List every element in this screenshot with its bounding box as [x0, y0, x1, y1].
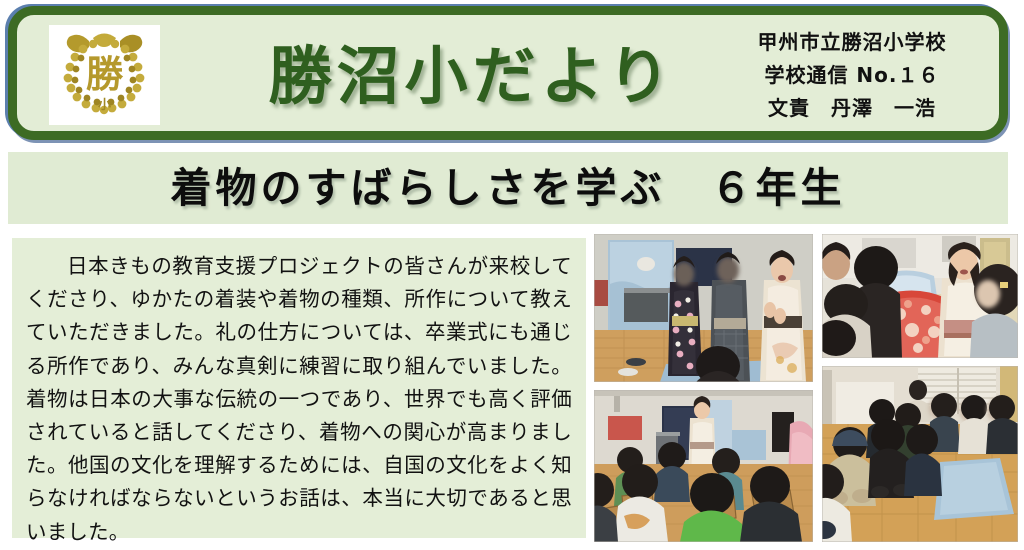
school-name: 甲州市立勝沼小学校: [727, 26, 977, 59]
subtitle-band: 着物のすばらしさを学ぶ ６年生: [8, 152, 1008, 224]
photo-kimono-demo: [594, 234, 813, 382]
svg-text:小: 小: [98, 98, 111, 113]
svg-text:勝: 勝: [86, 53, 124, 96]
article-panel: 日本きもの教育支援プロジェクトの皆さんが来校してくださり、ゆかたの着装や着物の種…: [12, 238, 586, 538]
article-body-text: 日本きもの教育支援プロジェクトの皆さんが来校してくださり、ゆかたの着装や着物の種…: [26, 250, 572, 549]
photo-audience: [594, 390, 813, 542]
article-headline: 着物のすばらしさを学ぶ ６年生: [8, 152, 1008, 224]
issue-number: 学校通信 No.１６: [727, 59, 977, 92]
masthead-banner: 勝 小 勝沼小だより 甲州市立勝沼小学校 学校通信 No.１６ 文責 丹澤 一浩: [8, 6, 1008, 140]
masthead-inner: 勝 小 勝沼小だより 甲州市立勝沼小学校 学校通信 No.１６ 文責 丹澤 一浩: [17, 15, 999, 131]
photo-kimono-fabric: [822, 234, 1018, 358]
school-crest-grape-wreath-icon: 勝 小: [49, 25, 160, 125]
masthead-meta-block: 甲州市立勝沼小学校 学校通信 No.１６ 文責 丹澤 一浩: [727, 26, 977, 125]
photo-seiza: [822, 366, 1018, 542]
author-credit: 文責 丹澤 一浩: [727, 92, 977, 125]
newsletter-title: 勝沼小だより: [212, 27, 732, 127]
newsletter-page: 勝 小 勝沼小だより 甲州市立勝沼小学校 学校通信 No.１６ 文責 丹澤 一浩…: [0, 0, 1024, 550]
